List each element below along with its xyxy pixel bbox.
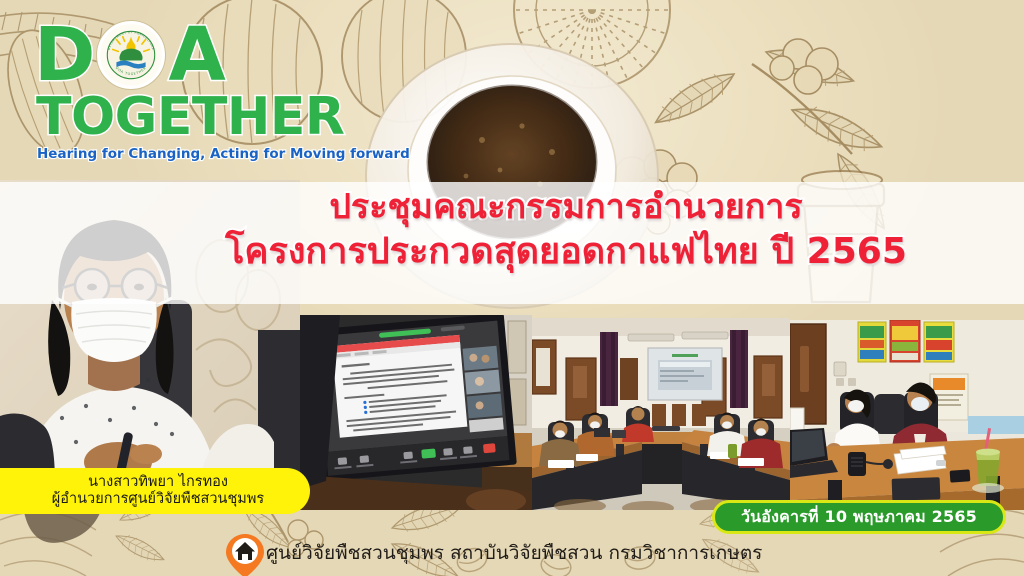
event-date-text: วันอังคารที่ 10 พฤษภาคม 2565 (741, 505, 977, 530)
home-pin-icon (224, 532, 266, 576)
footer-organization-text: ศูนย์วิจัยพืชสวนชุมพร สถาบันวิจัยพืชสวน … (266, 538, 762, 568)
event-title: ประชุมคณะกรรมการอำนวยการ โครงการประกวดสุ… (196, 188, 936, 273)
event-title-line-2: โครงการประกวดสุดยอดกาแฟไทย ปี 2565 (196, 231, 936, 273)
speaker-name-badge: นางสาวทิพยา ไกรทอง ผู้อำนวยการศูนย์วิจัย… (0, 468, 310, 514)
logo-letter-d: D (34, 19, 94, 91)
banner-canvas: D (0, 0, 1024, 576)
photo-participants-desk (790, 320, 1024, 510)
speaker-name: นางสาวทิพยา ไกรทอง (88, 474, 228, 491)
photo-zoom-meeting-screen (300, 315, 532, 510)
event-date-badge: วันอังคารที่ 10 พฤษภาคม 2565 (712, 500, 1006, 534)
doa-logo: D (34, 16, 334, 154)
doa-seal-icon: DEPARTMENT OF AGRICULTURE DOA TOGETHER (97, 21, 165, 89)
photo-conference-room (532, 318, 790, 510)
logo-letter-a: A (168, 19, 224, 91)
logo-wordmark-doa: D (34, 16, 334, 94)
logo-wordmark-together: TOGETHER (36, 92, 334, 142)
logo-tagline: Hearing for Changing, Acting for Moving … (37, 146, 334, 162)
speaker-position: ผู้อำนวยการศูนย์วิจัยพืชสวนชุมพร (52, 491, 264, 508)
event-title-line-1: ประชุมคณะกรรมการอำนวยการ (196, 188, 936, 227)
